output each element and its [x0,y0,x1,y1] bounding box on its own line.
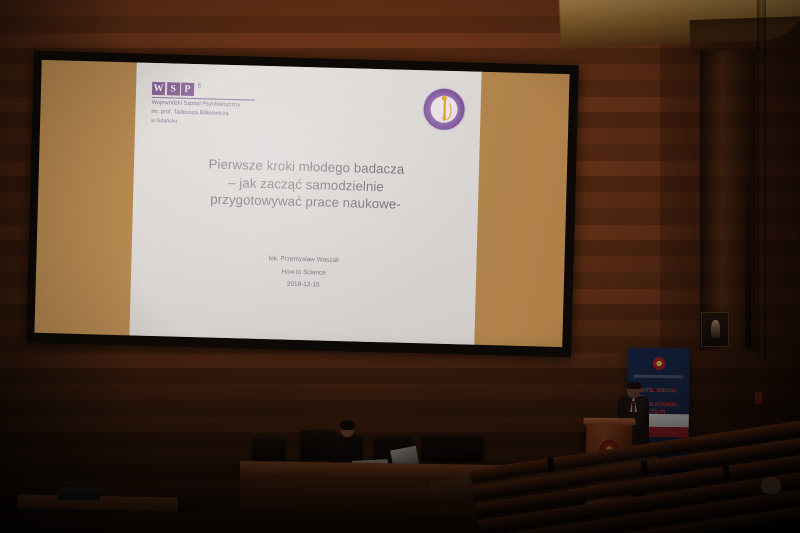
wall-fixture [745,148,751,348]
hospital-name-line-3: w Gdańsku [151,118,301,129]
slide-content: W S P § Wojewódzki Szpital Psychiatryczn… [129,62,481,344]
slide-title: Pierwsze kroki młodego badacza – jak zac… [133,153,479,215]
projection-screen: W S P § Wojewódzki Szpital Psychiatryczn… [26,51,579,358]
lecture-hall-photo: W S P § Wojewódzki Szpital Psychiatryczn… [0,0,800,533]
wsp-letter-s: S [166,82,179,95]
projected-slide: W S P § Wojewódzki Szpital Psychiatryczn… [129,62,481,344]
wall-seam [757,0,766,360]
screen-surface: W S P § Wojewódzki Szpital Psychiatryczn… [34,60,569,347]
hospital-logo: W S P § Wojewódzki Szpital Psychiatryczn… [151,82,302,129]
wsp-letter-p: P [181,83,194,96]
seal-center-glyph [442,96,447,101]
university-seal-icon [423,88,465,130]
slide-subtitle: lek. Przemysław Waszak How to Science 20… [131,249,477,296]
wsp-tick-icon: § [198,83,201,89]
foreground-shadow [0,333,800,533]
wsp-letter-w: W [152,82,165,95]
asclepius-snake-icon [439,101,452,120]
